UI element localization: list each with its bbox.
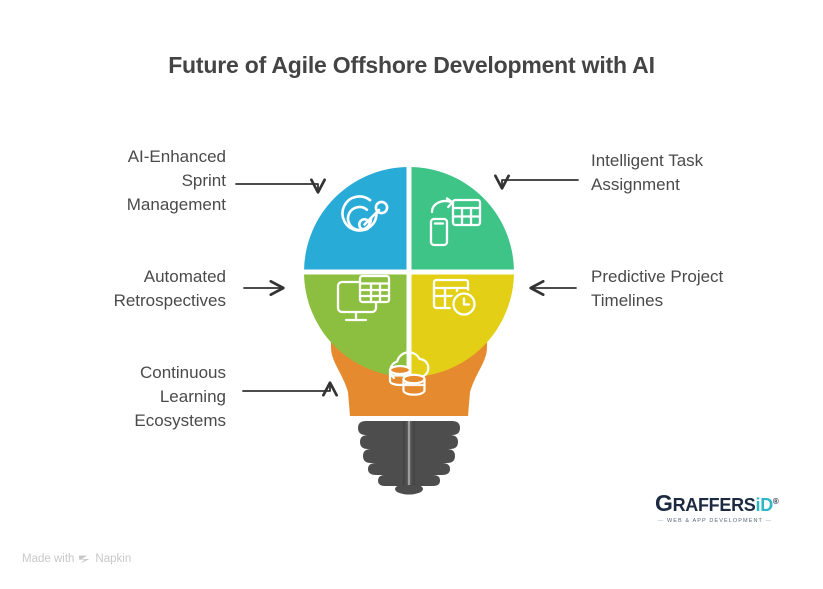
label-continuous-learning-ecosystems: Continuous Learning Ecosystems [6, 361, 226, 433]
page-title: Future of Agile Offshore Development wit… [0, 52, 823, 79]
graffersid-logo: GRAFFERSiD® — WEB & APP DEVELOPMENT — [655, 492, 775, 524]
logo-name: RAFFERS [673, 495, 756, 515]
quadrant-top-right [409, 163, 518, 272]
logo-tagline-text: WEB & APP DEVELOPMENT [667, 518, 763, 524]
bulb-quadrants [300, 160, 520, 385]
monitor-table-icon [338, 276, 389, 320]
quadrant-bottom-right [409, 272, 518, 381]
label-ai-enhanced-sprint-management: AI-Enhanced Sprint Management [6, 145, 226, 217]
watermark-made-with-label: Made with [22, 553, 74, 565]
arrow-task [502, 180, 578, 188]
cloud-coins-icon [390, 352, 428, 394]
target-icon [343, 196, 388, 230]
logo-registered-mark: ® [773, 497, 779, 506]
logo-letter-g: G [655, 490, 673, 516]
task-transfer-icon [431, 199, 480, 246]
bulb-neck-orange [330, 300, 488, 416]
quadrant-bottom-left [300, 272, 409, 381]
bulb-screw-base [358, 421, 460, 495]
table-clock-icon [434, 280, 476, 316]
napkin-watermark: Made with Napkin [22, 553, 131, 565]
watermark-brand: Napkin [95, 553, 131, 565]
quadrant-top-left [300, 163, 409, 272]
arrow-sprint [236, 184, 318, 192]
label-intelligent-task-assignment: Intelligent Task Assignment [591, 149, 806, 197]
label-predictive-project-timelines: Predictive Project Timelines [591, 265, 806, 313]
logo-wordmark: GRAFFERSiD® [655, 492, 775, 515]
napkin-logo-icon [78, 553, 91, 565]
arrow-continuous [243, 383, 330, 391]
label-automated-retrospectives: Automated Retrospectives [6, 265, 226, 313]
logo-tagline: — WEB & APP DEVELOPMENT — [655, 518, 775, 524]
logo-id: iD [756, 495, 773, 515]
